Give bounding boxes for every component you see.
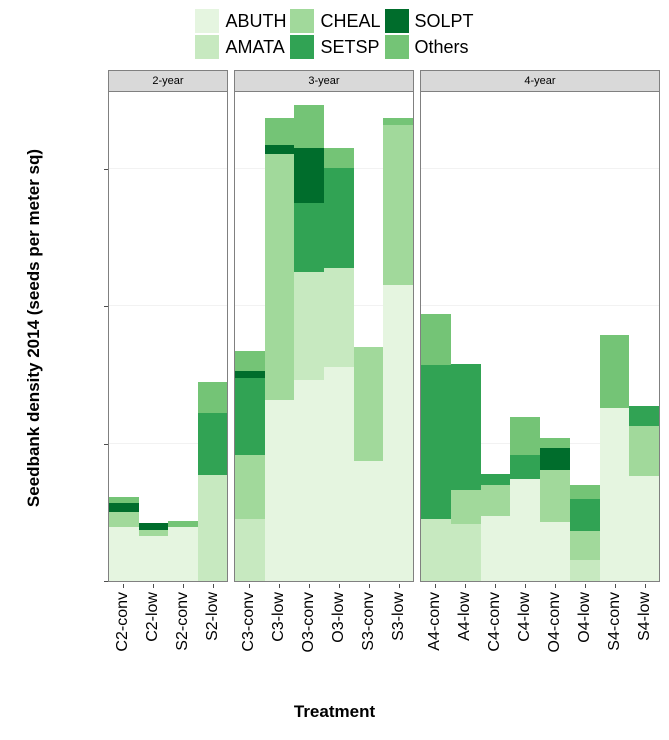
facet-panels: 2-year3-year4-year <box>108 70 660 582</box>
bar-group <box>421 92 659 581</box>
facet-strip-label: 2-year <box>108 70 228 92</box>
bar-segment-ABUTH <box>109 527 139 581</box>
x-tick-S3-conv[interactable]: S3-conv <box>354 584 384 704</box>
x-tick-O3-low[interactable]: O3-low <box>324 584 354 704</box>
x-tick-label: S3-conv <box>360 592 378 651</box>
x-tick-label: S2-conv <box>174 592 192 651</box>
x-tick-label: O3-low <box>330 592 348 643</box>
facet-panel-3-year: 3-year <box>234 70 414 582</box>
x-tick-label: C4-conv <box>486 592 504 652</box>
bar-segment-CHEAL <box>235 455 265 519</box>
bar-segment-SETSP <box>481 474 511 485</box>
bar-segment-Others <box>265 118 295 145</box>
bar-segment-Others <box>198 382 228 413</box>
bar-segment-CHEAL <box>109 512 139 526</box>
x-tick-group-3-year: C3-convC3-lowO3-convO3-lowS3-convS3-low <box>234 584 414 704</box>
bar-segment-Others <box>383 118 413 126</box>
x-tick-label: S4-low <box>636 592 654 641</box>
x-tick-mark <box>369 584 370 588</box>
legend-label-setsp: SETSP <box>320 38 379 56</box>
bar-segment-ABUTH <box>481 516 511 581</box>
x-axis-title: Treatment <box>0 702 669 722</box>
x-tick-mark <box>435 584 436 588</box>
bar-segment-SOLPT <box>139 523 169 531</box>
bar-S3-conv[interactable] <box>354 347 384 581</box>
facet-strip-label: 3-year <box>234 70 414 92</box>
bar-segment-SETSP <box>421 365 451 520</box>
facet-panel-2-year: 2-year <box>108 70 228 582</box>
x-tick-mark <box>495 584 496 588</box>
bar-segment-Others <box>570 485 600 499</box>
x-tick-C3-conv[interactable]: C3-conv <box>234 584 264 704</box>
bar-segment-SETSP <box>294 203 324 272</box>
bar-segment-SOLPT <box>294 148 324 203</box>
bar-segment-SETSP <box>198 413 228 475</box>
bar-segment-ABUTH <box>354 461 384 581</box>
x-tick-label: A4-low <box>456 592 474 641</box>
x-tick-C4-low[interactable]: C4-low <box>510 584 540 704</box>
x-tick-S2-conv[interactable]: S2-conv <box>168 584 198 704</box>
x-tick-label: S4-conv <box>606 592 624 651</box>
bar-C4-low[interactable] <box>510 417 540 581</box>
bar-O4-conv[interactable] <box>540 438 570 581</box>
x-tick-label: C4-low <box>516 592 534 642</box>
facet-plot-body <box>234 92 414 582</box>
bar-segment-Others <box>294 105 324 148</box>
bar-segment-AMATA <box>198 475 228 581</box>
bar-segment-ABUTH <box>139 536 169 581</box>
legend-swatch-amata <box>195 35 219 59</box>
bar-segment-AMATA <box>570 560 600 581</box>
bar-segment-AMATA <box>324 268 354 368</box>
x-tick-mark <box>153 584 154 588</box>
legend-item-others[interactable]: Others <box>385 34 474 60</box>
x-tick-label: A4-conv <box>426 592 444 651</box>
bar-C3-low[interactable] <box>265 118 295 581</box>
bar-segment-ABUTH <box>265 400 295 581</box>
bar-segment-Others <box>540 438 570 448</box>
legend-label-solpt: SOLPT <box>415 12 474 30</box>
facet-plot-body <box>108 92 228 582</box>
bar-segment-ABUTH <box>600 408 630 581</box>
x-tick-mark <box>555 584 556 588</box>
bar-A4-low[interactable] <box>451 364 481 581</box>
bar-O3-low[interactable] <box>324 148 354 581</box>
x-tick-label: S3-low <box>390 592 408 641</box>
bar-segment-SETSP <box>451 364 481 490</box>
bar-segment-SETSP <box>629 406 659 427</box>
bar-segment-SETSP <box>510 455 540 478</box>
facet-panel-4-year: 4-year <box>420 70 660 582</box>
x-tick-group-2-year: C2-convC2-lowS2-convS2-low <box>108 584 228 704</box>
bar-segment-ABUTH <box>383 285 413 581</box>
x-tick-label: C3-low <box>270 592 288 642</box>
legend-grid: ABUTH CHEAL SOLPT AMATA SETSP Others <box>195 8 473 60</box>
bar-segment-ABUTH <box>324 367 354 581</box>
bar-segment-Others <box>324 148 354 168</box>
x-tick-O4-low[interactable]: O4-low <box>570 584 600 704</box>
legend-item-amata[interactable]: AMATA <box>195 34 286 60</box>
x-tick-mark <box>399 584 400 588</box>
x-tick-group-4-year: A4-convA4-lowC4-convC4-lowO4-convO4-lowS… <box>420 584 660 704</box>
chart-root: ABUTH CHEAL SOLPT AMATA SETSP Others <box>0 0 669 740</box>
x-tick-O4-conv[interactable]: O4-conv <box>540 584 570 704</box>
facet-plot-body <box>420 92 660 582</box>
x-tick-mark <box>525 584 526 588</box>
x-tick-mark <box>585 584 586 588</box>
bar-group <box>235 92 413 581</box>
bar-segment-Others <box>510 417 540 455</box>
bar-segment-ABUTH <box>168 527 198 581</box>
legend-label-abuth: ABUTH <box>225 12 286 30</box>
x-tick-S2-low[interactable]: S2-low <box>198 584 228 704</box>
legend-item-cheal[interactable]: CHEAL <box>290 8 380 34</box>
bar-segment-SOLPT <box>265 145 295 154</box>
x-tick-label: O4-low <box>576 592 594 643</box>
bar-S2-conv[interactable] <box>168 521 198 581</box>
bar-segment-AMATA <box>235 519 265 581</box>
x-tick-mark <box>249 584 250 588</box>
x-tick-label: C2-low <box>144 592 162 642</box>
legend-swatch-solpt <box>385 9 409 33</box>
x-tick-mark <box>123 584 124 588</box>
y-axis-title: Seedbank density 2014 (seeds per meter s… <box>24 98 44 558</box>
facet-strip-label: 4-year <box>420 70 660 92</box>
bar-segment-ABUTH <box>540 522 570 581</box>
legend-swatch-abuth <box>195 9 219 33</box>
bar-segment-Others <box>421 314 451 364</box>
bar-segment-CHEAL <box>265 154 295 400</box>
legend-label-amata: AMATA <box>225 38 284 56</box>
bar-segment-SOLPT <box>109 503 139 512</box>
bar-segment-SOLPT <box>540 448 570 470</box>
x-tick-label: C3-conv <box>240 592 258 652</box>
bar-segment-SETSP <box>570 499 600 531</box>
plot-area: 0200040006000 2-year3-year4-year C2-conv… <box>108 70 660 582</box>
legend-swatch-cheal <box>290 9 314 33</box>
bar-segment-ABUTH <box>294 380 324 581</box>
bar-segment-Others <box>600 335 630 408</box>
bar-segment-SOLPT <box>235 371 265 379</box>
bar-segment-AMATA <box>451 524 481 581</box>
bar-segment-AMATA <box>421 519 451 581</box>
bar-segment-Others <box>109 497 139 504</box>
x-tick-mark <box>645 584 646 588</box>
bar-segment-CHEAL <box>354 347 384 461</box>
legend-item-setsp[interactable]: SETSP <box>290 34 380 60</box>
x-tick-mark <box>279 584 280 588</box>
bar-C4-conv[interactable] <box>481 474 511 581</box>
bar-segment-CHEAL <box>481 485 511 516</box>
bar-C2-low[interactable] <box>139 523 169 581</box>
x-tick-mark <box>615 584 616 588</box>
bar-segment-CHEAL <box>570 531 600 561</box>
x-tick-C4-conv[interactable]: C4-conv <box>480 584 510 704</box>
x-tick-A4-low[interactable]: A4-low <box>450 584 480 704</box>
bar-O3-conv[interactable] <box>294 105 324 581</box>
legend-item-solpt[interactable]: SOLPT <box>385 8 474 34</box>
legend-swatch-others <box>385 35 409 59</box>
x-tick-C2-low[interactable]: C2-low <box>138 584 168 704</box>
x-tick-S4-conv[interactable]: S4-conv <box>600 584 630 704</box>
bar-O4-low[interactable] <box>570 485 600 581</box>
bar-segment-ABUTH <box>629 476 659 581</box>
bar-segment-ABUTH <box>510 479 540 581</box>
bar-segment-SETSP <box>235 378 265 455</box>
legend-label-others: Others <box>415 38 469 56</box>
bar-group <box>109 92 227 581</box>
x-tick-C2-conv[interactable]: C2-conv <box>108 584 138 704</box>
x-tick-mark <box>213 584 214 588</box>
bar-segment-CHEAL <box>540 470 570 522</box>
x-tick-mark <box>309 584 310 588</box>
legend-label-cheal: CHEAL <box>320 12 380 30</box>
bar-S2-low[interactable] <box>198 382 228 581</box>
x-tick-mark <box>183 584 184 588</box>
legend-swatch-setsp <box>290 35 314 59</box>
x-tick-label: O3-conv <box>300 592 318 652</box>
x-tick-mark <box>339 584 340 588</box>
x-tick-mark <box>465 584 466 588</box>
legend-item-abuth[interactable]: ABUTH <box>195 8 286 34</box>
x-tick-A4-conv[interactable]: A4-conv <box>420 584 450 704</box>
bar-A4-conv[interactable] <box>421 314 451 581</box>
x-tick-S3-low[interactable]: S3-low <box>384 584 414 704</box>
bar-S3-low[interactable] <box>383 118 413 581</box>
x-tick-C3-low[interactable]: C3-low <box>264 584 294 704</box>
bar-S4-low[interactable] <box>629 406 659 581</box>
x-tick-label: C2-conv <box>114 592 132 652</box>
bar-S4-conv[interactable] <box>600 335 630 581</box>
legend: ABUTH CHEAL SOLPT AMATA SETSP Others <box>0 8 669 60</box>
bar-segment-SETSP <box>324 168 354 268</box>
bar-segment-Others <box>235 351 265 371</box>
x-axis: C2-convC2-lowS2-convS2-lowC3-convC3-lowO… <box>108 584 660 704</box>
bar-C2-conv[interactable] <box>109 497 139 582</box>
x-tick-S4-low[interactable]: S4-low <box>630 584 660 704</box>
bar-segment-CHEAL <box>383 125 413 285</box>
x-tick-label: O4-conv <box>546 592 564 652</box>
bar-segment-CHEAL <box>451 490 481 524</box>
x-tick-O3-conv[interactable]: O3-conv <box>294 584 324 704</box>
bar-segment-CHEAL <box>629 426 659 475</box>
bar-segment-AMATA <box>294 272 324 381</box>
bar-C3-conv[interactable] <box>235 351 265 581</box>
x-tick-label: S2-low <box>204 592 222 641</box>
